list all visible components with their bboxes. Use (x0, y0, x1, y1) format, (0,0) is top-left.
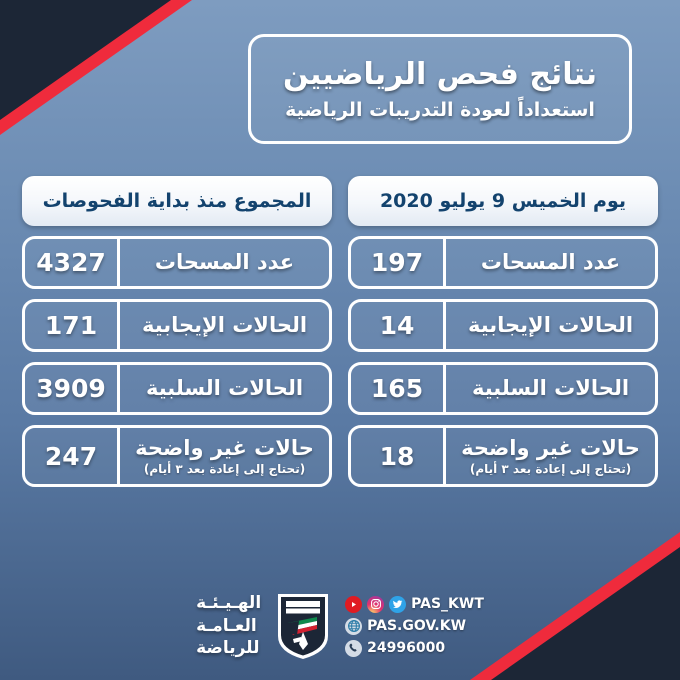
row-label: حالات غير واضحة (تحتاج إلى إعادة بعد ٣ أ… (120, 428, 329, 484)
stats-columns: المجموع منذ بداية الفحوصات 4327 عدد المس… (22, 176, 658, 487)
page-title: نتائج فحص الرياضيين (283, 57, 597, 92)
column-daily: يوم الخميس 9 يوليو 2020 197 عدد المسحات … (348, 176, 658, 487)
website-text[interactable]: PAS.GOV.KW (367, 618, 466, 634)
row-value: 165 (351, 365, 443, 412)
column-header-daily: يوم الخميس 9 يوليو 2020 (348, 176, 658, 226)
corner-decoration-top-left-dark (0, 0, 171, 120)
org-line-2: العـامـة (196, 615, 257, 637)
row-value: 14 (351, 302, 443, 349)
table-row: 247 حالات غير واضحة (تحتاج إلى إعادة بعد… (22, 425, 332, 487)
table-row: 14 الحالات الإيجابية (348, 299, 658, 352)
row-label-main: الحالات الإيجابية (142, 313, 307, 337)
contact-website[interactable]: PAS.GOV.KW (345, 618, 484, 635)
table-row: 197 عدد المسحات (348, 236, 658, 289)
column-header-label: يوم الخميس 9 يوليو 2020 (380, 190, 626, 212)
org-line-1: الهـيـئـة (196, 592, 261, 614)
globe-icon[interactable] (345, 618, 362, 635)
row-label-main: حالات غير واضحة (135, 436, 314, 460)
table-row: 165 الحالات السلبية (348, 362, 658, 415)
row-label-main: عدد المسحات (481, 250, 620, 274)
row-value: 197 (351, 239, 443, 286)
row-label-main: الحالات السلبية (146, 376, 303, 400)
table-row: 3909 الحالات السلبية (22, 362, 332, 415)
row-label: حالات غير واضحة (تحتاج إلى إعادة بعد ٣ أ… (446, 428, 655, 484)
youtube-icon[interactable] (345, 596, 362, 613)
row-label: عدد المسحات (446, 239, 655, 286)
column-header-label: المجموع منذ بداية الفحوصات (43, 190, 312, 212)
row-label-main: حالات غير واضحة (461, 436, 640, 460)
row-label: الحالات السلبية (120, 365, 329, 412)
row-value: 18 (351, 428, 443, 484)
column-cumulative: المجموع منذ بداية الفحوصات 4327 عدد المس… (22, 176, 332, 487)
row-label-main: عدد المسحات (155, 250, 294, 274)
row-label: الحالات الإيجابية (120, 302, 329, 349)
page-subtitle: استعداداً لعودة التدريبات الرياضية (285, 99, 595, 121)
organization-name: الهـيـئـة العـامـة للرياضة (196, 592, 261, 659)
table-row: 171 الحالات الإيجابية (22, 299, 332, 352)
row-value: 3909 (25, 365, 117, 412)
row-label: عدد المسحات (120, 239, 329, 286)
row-value: 171 (25, 302, 117, 349)
twitter-icon[interactable] (389, 596, 406, 613)
social-handle-text[interactable]: PAS_KWT (411, 596, 484, 612)
contact-social-handles[interactable]: PAS_KWT (345, 596, 484, 613)
row-label-sub: (تحتاج إلى إعادة بعد ٣ أيام) (144, 462, 305, 476)
infographic-poster: نتائج فحص الرياضيين استعداداً لعودة التد… (0, 0, 680, 680)
row-label-main: الحالات السلبية (472, 376, 629, 400)
contact-list: PAS_KWT PAS.GOV.KW (345, 596, 484, 657)
row-label: الحالات السلبية (446, 365, 655, 412)
row-label-main: الحالات الإيجابية (468, 313, 633, 337)
phone-icon[interactable] (345, 640, 362, 657)
row-label-sub: (تحتاج إلى إعادة بعد ٣ أيام) (470, 462, 631, 476)
table-row: 18 حالات غير واضحة (تحتاج إلى إعادة بعد … (348, 425, 658, 487)
row-value: 4327 (25, 239, 117, 286)
contact-phone[interactable]: 24996000 (345, 640, 484, 657)
row-value: 247 (25, 428, 117, 484)
footer: الهـيـئـة العـامـة للرياضة (0, 590, 680, 662)
column-header-cumulative: المجموع منذ بداية الفحوصات (22, 176, 332, 226)
phone-text[interactable]: 24996000 (367, 640, 445, 656)
title-card: نتائج فحص الرياضيين استعداداً لعودة التد… (248, 34, 632, 144)
instagram-icon[interactable] (367, 596, 384, 613)
org-line-3: للرياضة (196, 637, 259, 659)
kuwait-sport-authority-logo (275, 590, 331, 662)
row-label: الحالات الإيجابية (446, 302, 655, 349)
table-row: 4327 عدد المسحات (22, 236, 332, 289)
